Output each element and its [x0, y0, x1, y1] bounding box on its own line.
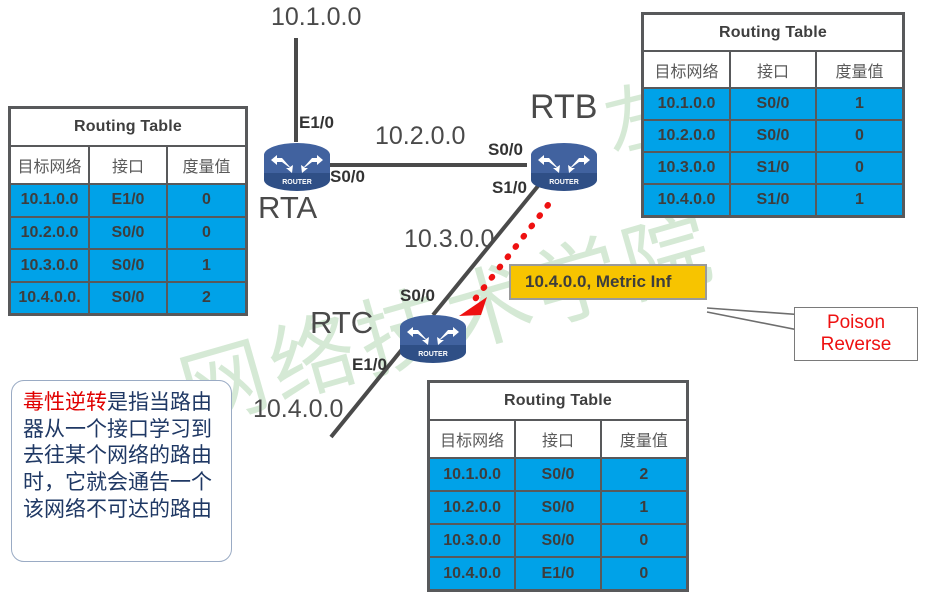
col-header-metric: 度量值	[816, 51, 902, 88]
col-header-dest: 目标网络	[11, 146, 89, 184]
table-title: Routing Table	[11, 109, 245, 146]
cell-metric: 2	[601, 458, 686, 491]
cell-metric: 0	[167, 217, 245, 250]
col-header-iface: 接口	[89, 146, 167, 184]
cell-metric: 0	[816, 120, 902, 152]
cell-dest: 10.2.0.0	[644, 120, 730, 152]
router-label: ROUTER	[549, 179, 579, 186]
table-row: 10.1.0.0 E1/0 0	[11, 184, 245, 217]
table-row: 10.4.0.0. S0/0 2	[11, 282, 245, 313]
cell-iface: S0/0	[89, 282, 167, 313]
cell-dest: 10.3.0.0	[11, 249, 89, 282]
network-label-10-3-0-0: 10.3.0.0	[404, 225, 494, 254]
interface-label-rta-e1-0: E1/0	[299, 113, 334, 133]
cell-dest: 10.1.0.0	[644, 88, 730, 120]
cell-iface: E1/0	[89, 184, 167, 217]
interface-label-rtc-s0-0: S0/0	[400, 286, 435, 306]
col-header-iface: 接口	[515, 420, 600, 458]
cell-dest: 10.3.0.0	[430, 524, 515, 557]
network-label-10-2-0-0: 10.2.0.0	[375, 122, 465, 151]
poison-reverse-callout: Poison Reverse	[794, 307, 918, 361]
interface-label-rtc-e1-0: E1/0	[352, 355, 387, 375]
cell-dest: 10.4.0.0	[430, 557, 515, 589]
cell-dest: 10.2.0.0	[11, 217, 89, 250]
poison-reverse-line1: Poison	[827, 312, 885, 334]
col-header-metric: 度量值	[601, 420, 686, 458]
table-row: 10.2.0.0 S0/0 0	[644, 120, 902, 152]
cell-iface: E1/0	[515, 557, 600, 589]
cell-iface: S0/0	[89, 217, 167, 250]
cell-iface: S0/0	[730, 120, 816, 152]
table-row: 10.2.0.0 S0/0 1	[430, 491, 686, 524]
cell-metric: 0	[167, 184, 245, 217]
routing-table-rtc: Routing Table 目标网络 接口 度量值 10.1.0.0 S0/0 …	[427, 380, 689, 592]
poison-reverse-line2: Reverse	[821, 334, 892, 356]
cell-metric: 0	[601, 524, 686, 557]
interface-label-rtb-s0-0: S0/0	[488, 140, 523, 160]
router-name-rta: RTA	[258, 190, 317, 226]
network-label-10-1-0-0: 10.1.0.0	[271, 3, 361, 32]
cell-iface: S0/0	[515, 458, 600, 491]
cell-metric: 1	[601, 491, 686, 524]
metric-update-callout: 10.4.0.0, Metric Inf	[509, 264, 707, 300]
cell-metric: 0	[816, 152, 902, 184]
cell-dest: 10.4.0.0	[644, 184, 730, 215]
cell-metric: 0	[601, 557, 686, 589]
router-icon-rta: ROUTER	[260, 138, 334, 194]
cell-metric: 1	[816, 184, 902, 215]
cell-iface: S0/0	[515, 524, 600, 557]
metric-update-label: 10.4.0.0, Metric Inf	[525, 272, 671, 292]
routing-table-rtb: Routing Table 目标网络 接口 度量值 10.1.0.0 S0/0 …	[641, 12, 905, 218]
poison-reverse-note: 毒性逆转是指当路由器从一个接口学习到去往某个网络的路由时，它就会通告一个该网络不…	[11, 380, 232, 562]
table-row: 10.4.0.0 S1/0 1	[644, 184, 902, 215]
router-name-rtb: RTB	[530, 88, 597, 127]
table-title: Routing Table	[430, 383, 686, 420]
table-row: 10.1.0.0 S0/0 2	[430, 458, 686, 491]
router-name-rtc: RTC	[310, 305, 373, 341]
cell-dest: 10.4.0.0.	[11, 282, 89, 313]
col-header-dest: 目标网络	[430, 420, 515, 458]
cell-metric: 1	[816, 88, 902, 120]
router-icon-rtb: ROUTER	[527, 138, 601, 194]
table-row: 10.3.0.0 S0/0 0	[430, 524, 686, 557]
table-row: 10.1.0.0 S0/0 1	[644, 88, 902, 120]
router-icon-rtc: ROUTER	[396, 310, 470, 366]
col-header-iface: 接口	[730, 51, 816, 88]
router-label: ROUTER	[418, 351, 448, 358]
cell-iface: S0/0	[89, 249, 167, 282]
cell-iface: S1/0	[730, 184, 816, 215]
table-row: 10.3.0.0 S1/0 0	[644, 152, 902, 184]
cell-dest: 10.2.0.0	[430, 491, 515, 524]
interface-label-rtb-s1-0: S1/0	[492, 178, 527, 198]
cell-dest: 10.1.0.0	[430, 458, 515, 491]
cell-metric: 1	[167, 249, 245, 282]
table-row: 10.2.0.0 S0/0 0	[11, 217, 245, 250]
cell-iface: S0/0	[515, 491, 600, 524]
interface-label-rta-s0-0: S0/0	[330, 167, 365, 187]
diagram-canvas: 网络技术学院 左岐普泰 网络 Routing Table 目标网络 接口 度量	[0, 0, 938, 603]
cell-dest: 10.1.0.0	[11, 184, 89, 217]
network-label-10-4-0-0: 10.4.0.0	[253, 395, 343, 424]
table-row: 10.4.0.0 E1/0 0	[430, 557, 686, 589]
col-header-dest: 目标网络	[644, 51, 730, 88]
router-label: ROUTER	[282, 179, 312, 186]
cell-iface: S0/0	[730, 88, 816, 120]
cell-dest: 10.3.0.0	[644, 152, 730, 184]
routing-table-rta: Routing Table 目标网络 接口 度量值 10.1.0.0 E1/0 …	[8, 106, 248, 316]
table-title: Routing Table	[644, 15, 902, 51]
cell-iface: S1/0	[730, 152, 816, 184]
cell-metric: 2	[167, 282, 245, 313]
note-keyword: 毒性逆转	[23, 390, 107, 414]
col-header-metric: 度量值	[167, 146, 245, 184]
table-row: 10.3.0.0 S0/0 1	[11, 249, 245, 282]
